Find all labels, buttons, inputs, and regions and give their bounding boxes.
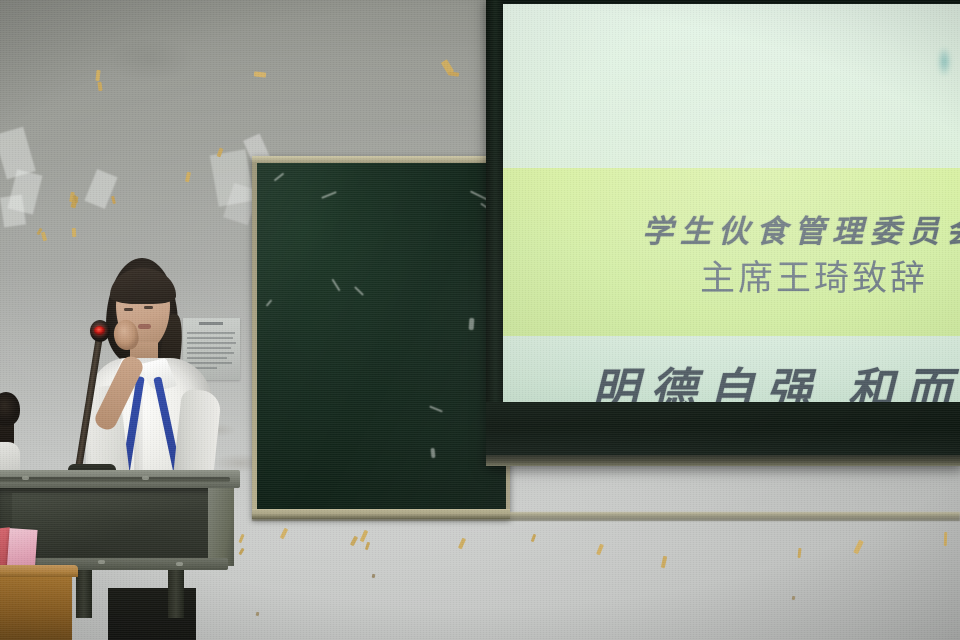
lectern-fastener	[22, 476, 29, 480]
lectern-fastener	[176, 562, 183, 566]
speaker-eye-right	[144, 306, 153, 309]
microphone-indicator-light	[94, 326, 105, 335]
projection-screen-left-edge	[486, 0, 503, 456]
lectern-fastener	[142, 476, 149, 480]
tape-residue	[0, 195, 26, 228]
microphone-stem	[73, 335, 103, 484]
speaker-eye-left	[124, 308, 133, 311]
chalk-tray-extension	[252, 512, 960, 521]
desk-front-panel	[0, 576, 72, 640]
desk-top-surface	[0, 565, 78, 577]
lectern-fastener	[98, 560, 105, 564]
slide-motto-line: 明德自强 和而不	[592, 354, 960, 404]
chalkboard	[252, 156, 510, 519]
audience-head	[0, 392, 20, 426]
projection-screen-bottom-rail	[486, 455, 960, 466]
chalkboard-sheen	[257, 162, 506, 509]
slide-title-line: 学生伙食管理委员会	[642, 206, 960, 251]
lectern-inner-shadow	[12, 493, 212, 557]
slide-band-top	[502, 4, 960, 168]
projection-screen: 学生伙食管理委员会 主席王琦致辞 明德自强 和而不	[486, 0, 960, 466]
lectern-side-panel	[208, 484, 234, 566]
chalk-mark	[469, 318, 475, 330]
lectern-leg	[76, 570, 92, 618]
chalkboard-surface	[257, 162, 506, 509]
speaker-mouth	[138, 324, 151, 329]
photo-scene: 学生伙食管理委员会 主席王琦致辞 明德自强 和而不	[0, 0, 960, 640]
confetti-piece	[944, 532, 947, 546]
microphone	[68, 318, 134, 488]
projection-screen-weight-bar	[486, 402, 960, 456]
wooden-desk	[0, 565, 78, 640]
lectern-leg	[168, 570, 184, 618]
projection-screen-surface: 学生伙食管理委员会 主席王琦致辞 明德自强 和而不	[502, 4, 960, 404]
slide-accent-mark	[938, 48, 954, 82]
confetti-piece	[72, 228, 77, 237]
slide-band-middle: 学生伙食管理委员会 主席王琦致辞	[502, 168, 960, 336]
chalkboard-top-rail	[252, 156, 510, 163]
slide-band-bottom: 明德自强 和而不	[502, 336, 960, 404]
lectern-top-rail	[0, 477, 230, 482]
slide-subtitle-line: 主席王琦致辞	[700, 250, 928, 301]
